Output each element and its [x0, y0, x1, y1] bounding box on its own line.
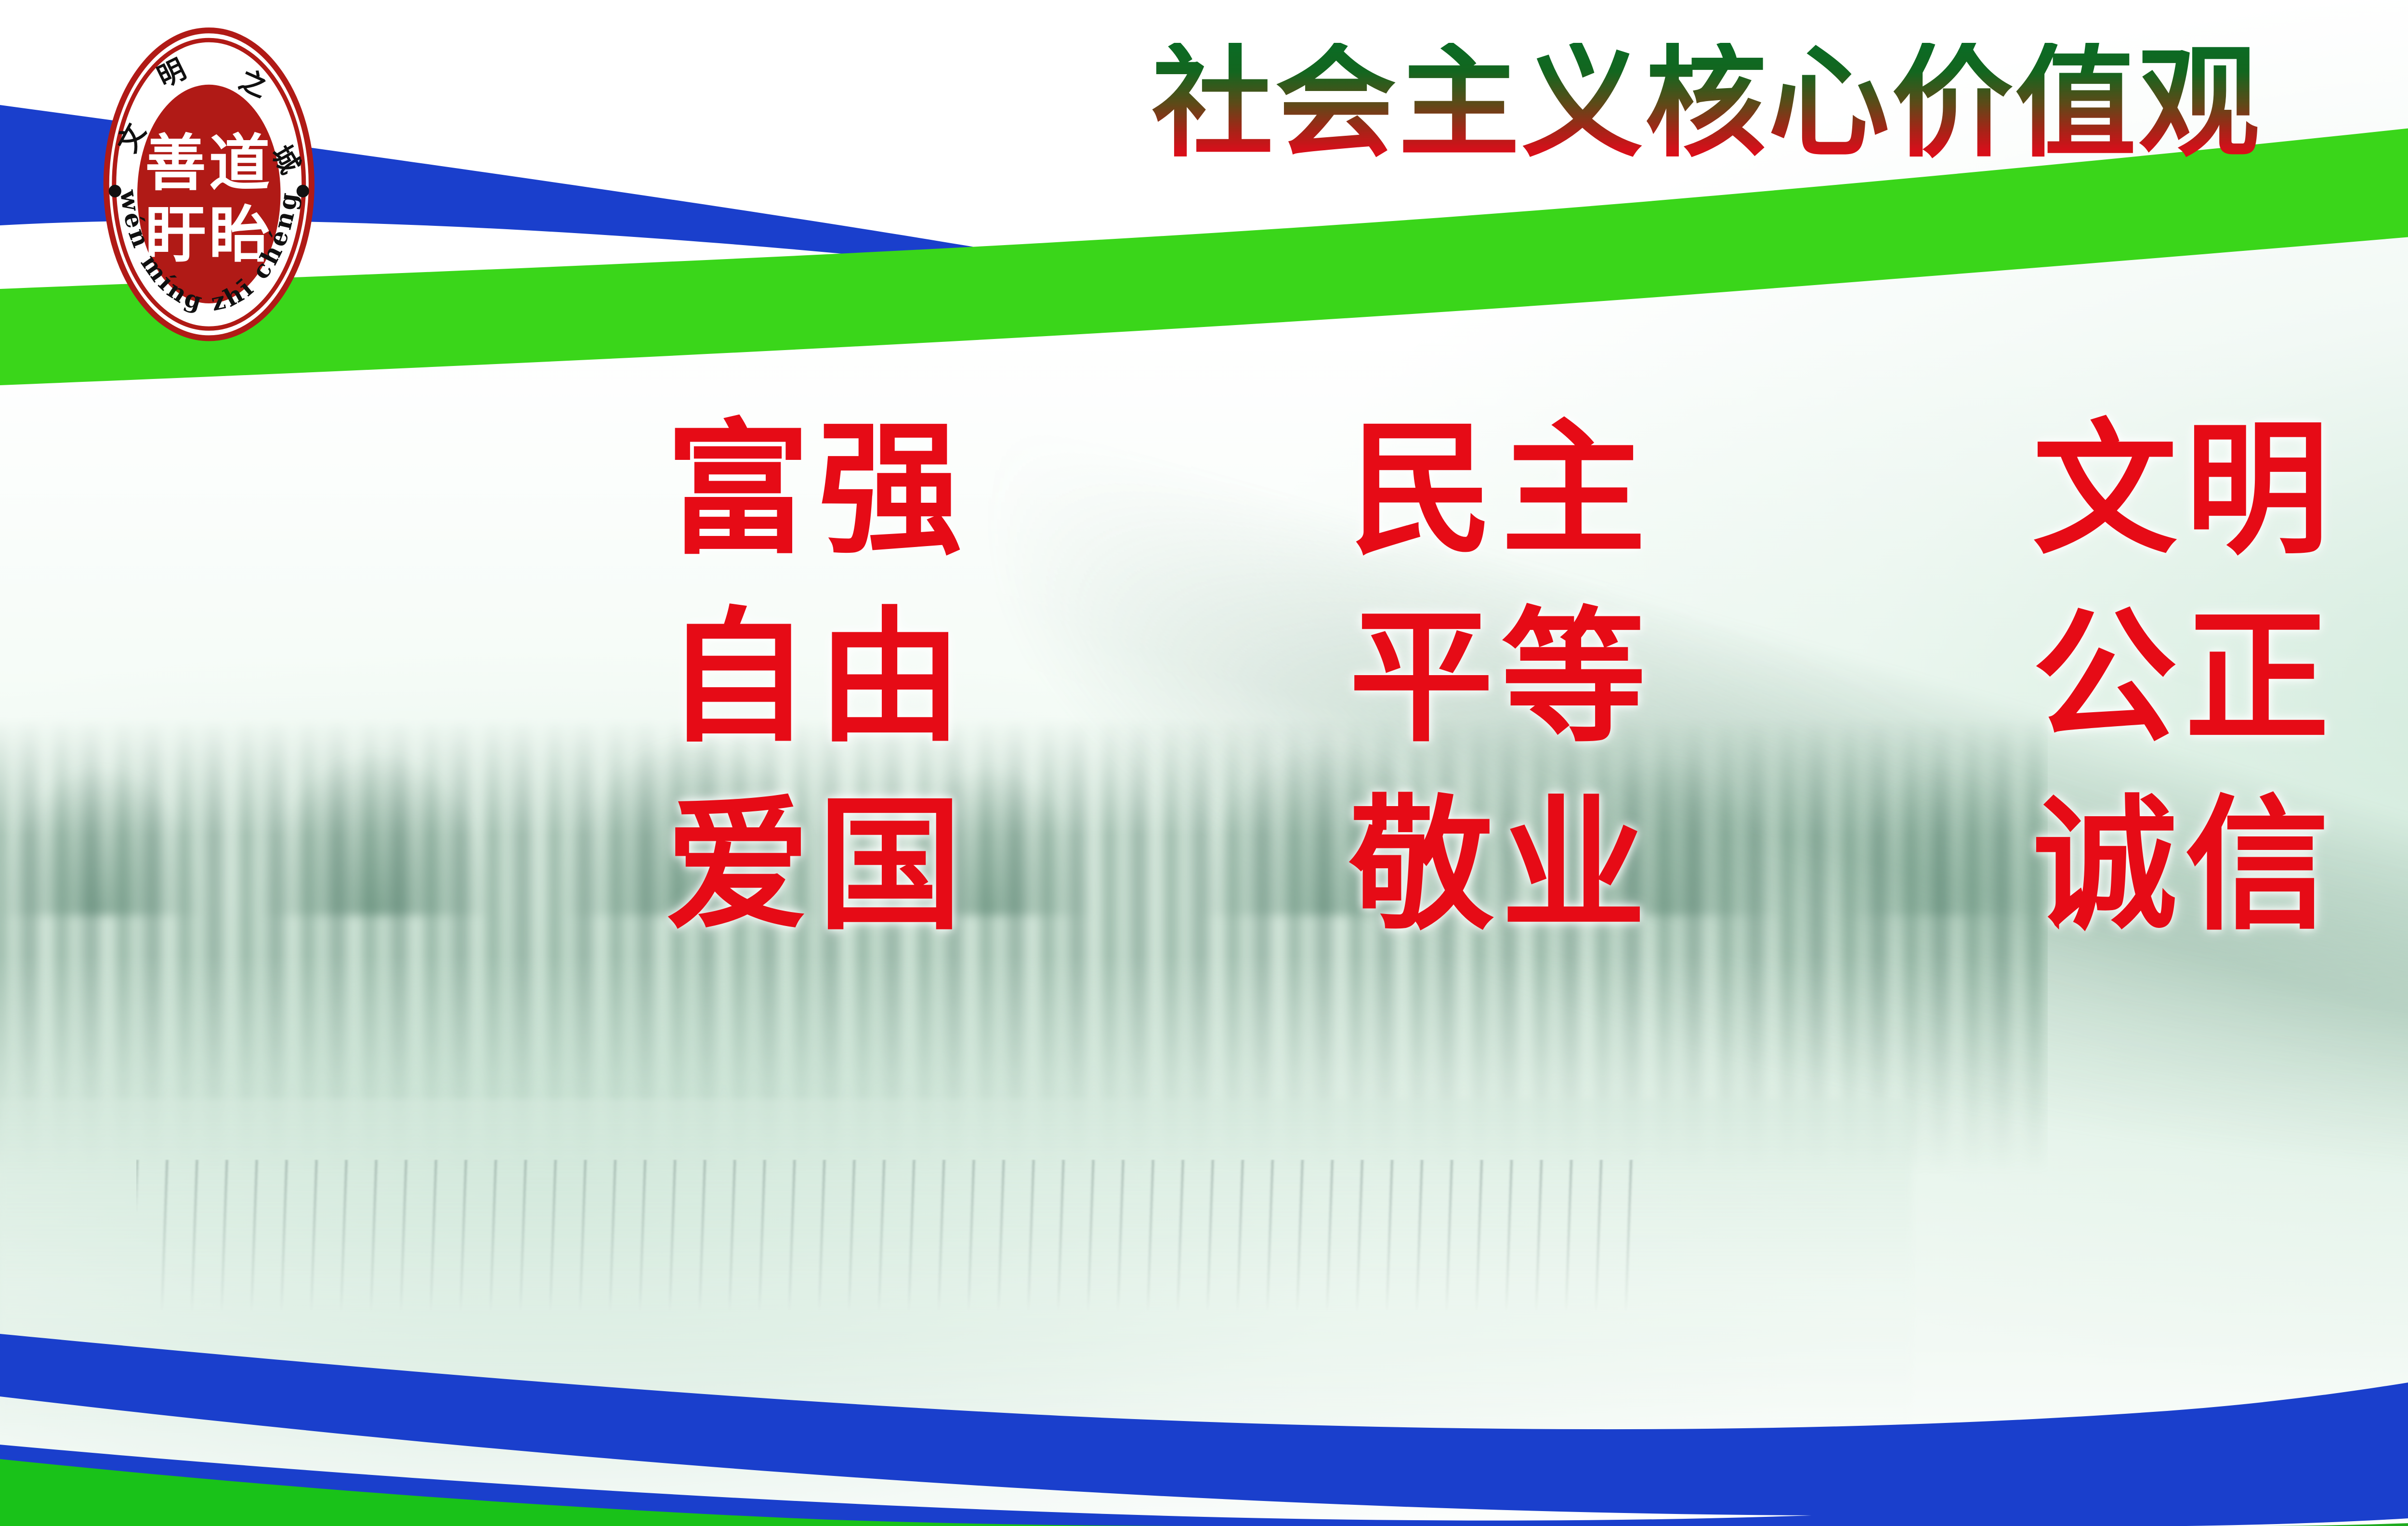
value-word-wenming: 文明 — [2033, 412, 2337, 568]
socialist-core-values-banner: 文 明 之 城 善道 盱眙 wén míng zhī chéng 社会主义核心价… — [0, 0, 2408, 1526]
values-row-2: 自由 平等 公正 法治 — [666, 600, 2408, 756]
value-word-gongzheng: 公正 — [2033, 600, 2337, 756]
value-word-jingye: 敬业 — [1349, 788, 1653, 944]
city-seal-logo: 文 明 之 城 善道 盱眙 wén míng zhī chéng — [40, 14, 378, 353]
ribbon-blue-bottom — [0, 944, 2408, 1515]
seal-center-line-1: 善道 — [145, 127, 273, 198]
value-word-minzhu: 民主 — [1349, 412, 1653, 568]
value-word-ziyou: 自由 — [666, 600, 970, 756]
values-row-3: 爱国 敬业 诚信 友善 — [666, 788, 2408, 944]
page-title: 社会主义核心价值观 — [819, 43, 2408, 164]
value-word-fuqiang: 富强 — [666, 412, 970, 568]
value-word-pingdeng: 平等 — [1349, 600, 1653, 756]
core-values-list: 富强 民主 文明 和谐 自由 平等 公正 法治 爱国 敬业 诚信 友善 — [666, 412, 2408, 976]
value-word-chengxin: 诚信 — [2033, 788, 2337, 944]
values-row-1: 富强 民主 文明 和谐 — [666, 412, 2408, 568]
value-word-aiguo: 爱国 — [666, 788, 970, 944]
